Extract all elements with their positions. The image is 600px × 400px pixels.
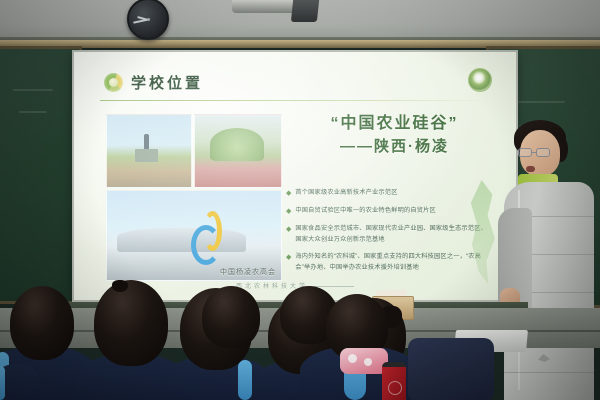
- ceiling-projector-mount: [291, 0, 319, 22]
- expo-sculpture-icon: [191, 209, 225, 267]
- bullet-marker-icon: ◆: [286, 206, 291, 217]
- student-head: [196, 286, 268, 348]
- list-item: ◆ 首个国家级农业高新技术产业示范区: [286, 188, 492, 199]
- bullet-marker-icon: ◆: [286, 224, 291, 245]
- university-emblem-icon: [468, 68, 492, 92]
- slide-title: 学校位置: [131, 72, 203, 93]
- presenter-mouth: [526, 166, 535, 172]
- bullet-text: 国家食品安全示范城市、国家现代农业产业园、国家级生态示范区、国家大众创业万众创新…: [295, 224, 492, 245]
- wall-clock-icon: [127, 0, 169, 40]
- title-divider: [100, 100, 494, 101]
- slide-title-block: 学校位置: [104, 72, 203, 93]
- classroom-photo: 学校位置 中国杨凌农高会: [0, 0, 600, 400]
- circle-gradient-logo-icon: [104, 73, 123, 92]
- clock-center-pin: [147, 18, 150, 21]
- bullet-marker-icon: ◆: [286, 188, 291, 199]
- seated-students: [0, 262, 600, 400]
- pink-star-scarf: [340, 348, 388, 374]
- list-item: ◆ 中国自贸试验区中唯一的农业特色鲜明的自贸片区: [286, 206, 492, 217]
- student-head: [404, 330, 496, 400]
- bullet-text: 首个国家级农业高新技术产业示范区: [295, 188, 397, 199]
- list-item: ◆ 国家食品安全示范城市、国家现代农业产业园、国家级生态示范区、国家大众创业万众…: [286, 224, 492, 245]
- student-head: [0, 342, 40, 400]
- student-head: [300, 296, 418, 400]
- slide-headline: “中国农业硅谷” ——陕西·杨凌: [292, 114, 497, 157]
- clock-minute-hand: [133, 19, 148, 24]
- headline-line-2: ——陕西·杨凌: [292, 136, 497, 157]
- bullet-text: 中国自贸试验区中唯一的农业特色鲜明的自贸片区: [295, 206, 436, 217]
- photo-statue-plaza: [106, 114, 192, 188]
- headline-line-1: “中国农业硅谷”: [292, 114, 497, 134]
- backpack: [408, 338, 494, 400]
- photo-collage: 中国杨凌农高会: [106, 114, 282, 281]
- photo-floral-landmark: [194, 114, 282, 188]
- glasses-icon: [518, 148, 552, 157]
- red-water-bottle: [382, 362, 406, 400]
